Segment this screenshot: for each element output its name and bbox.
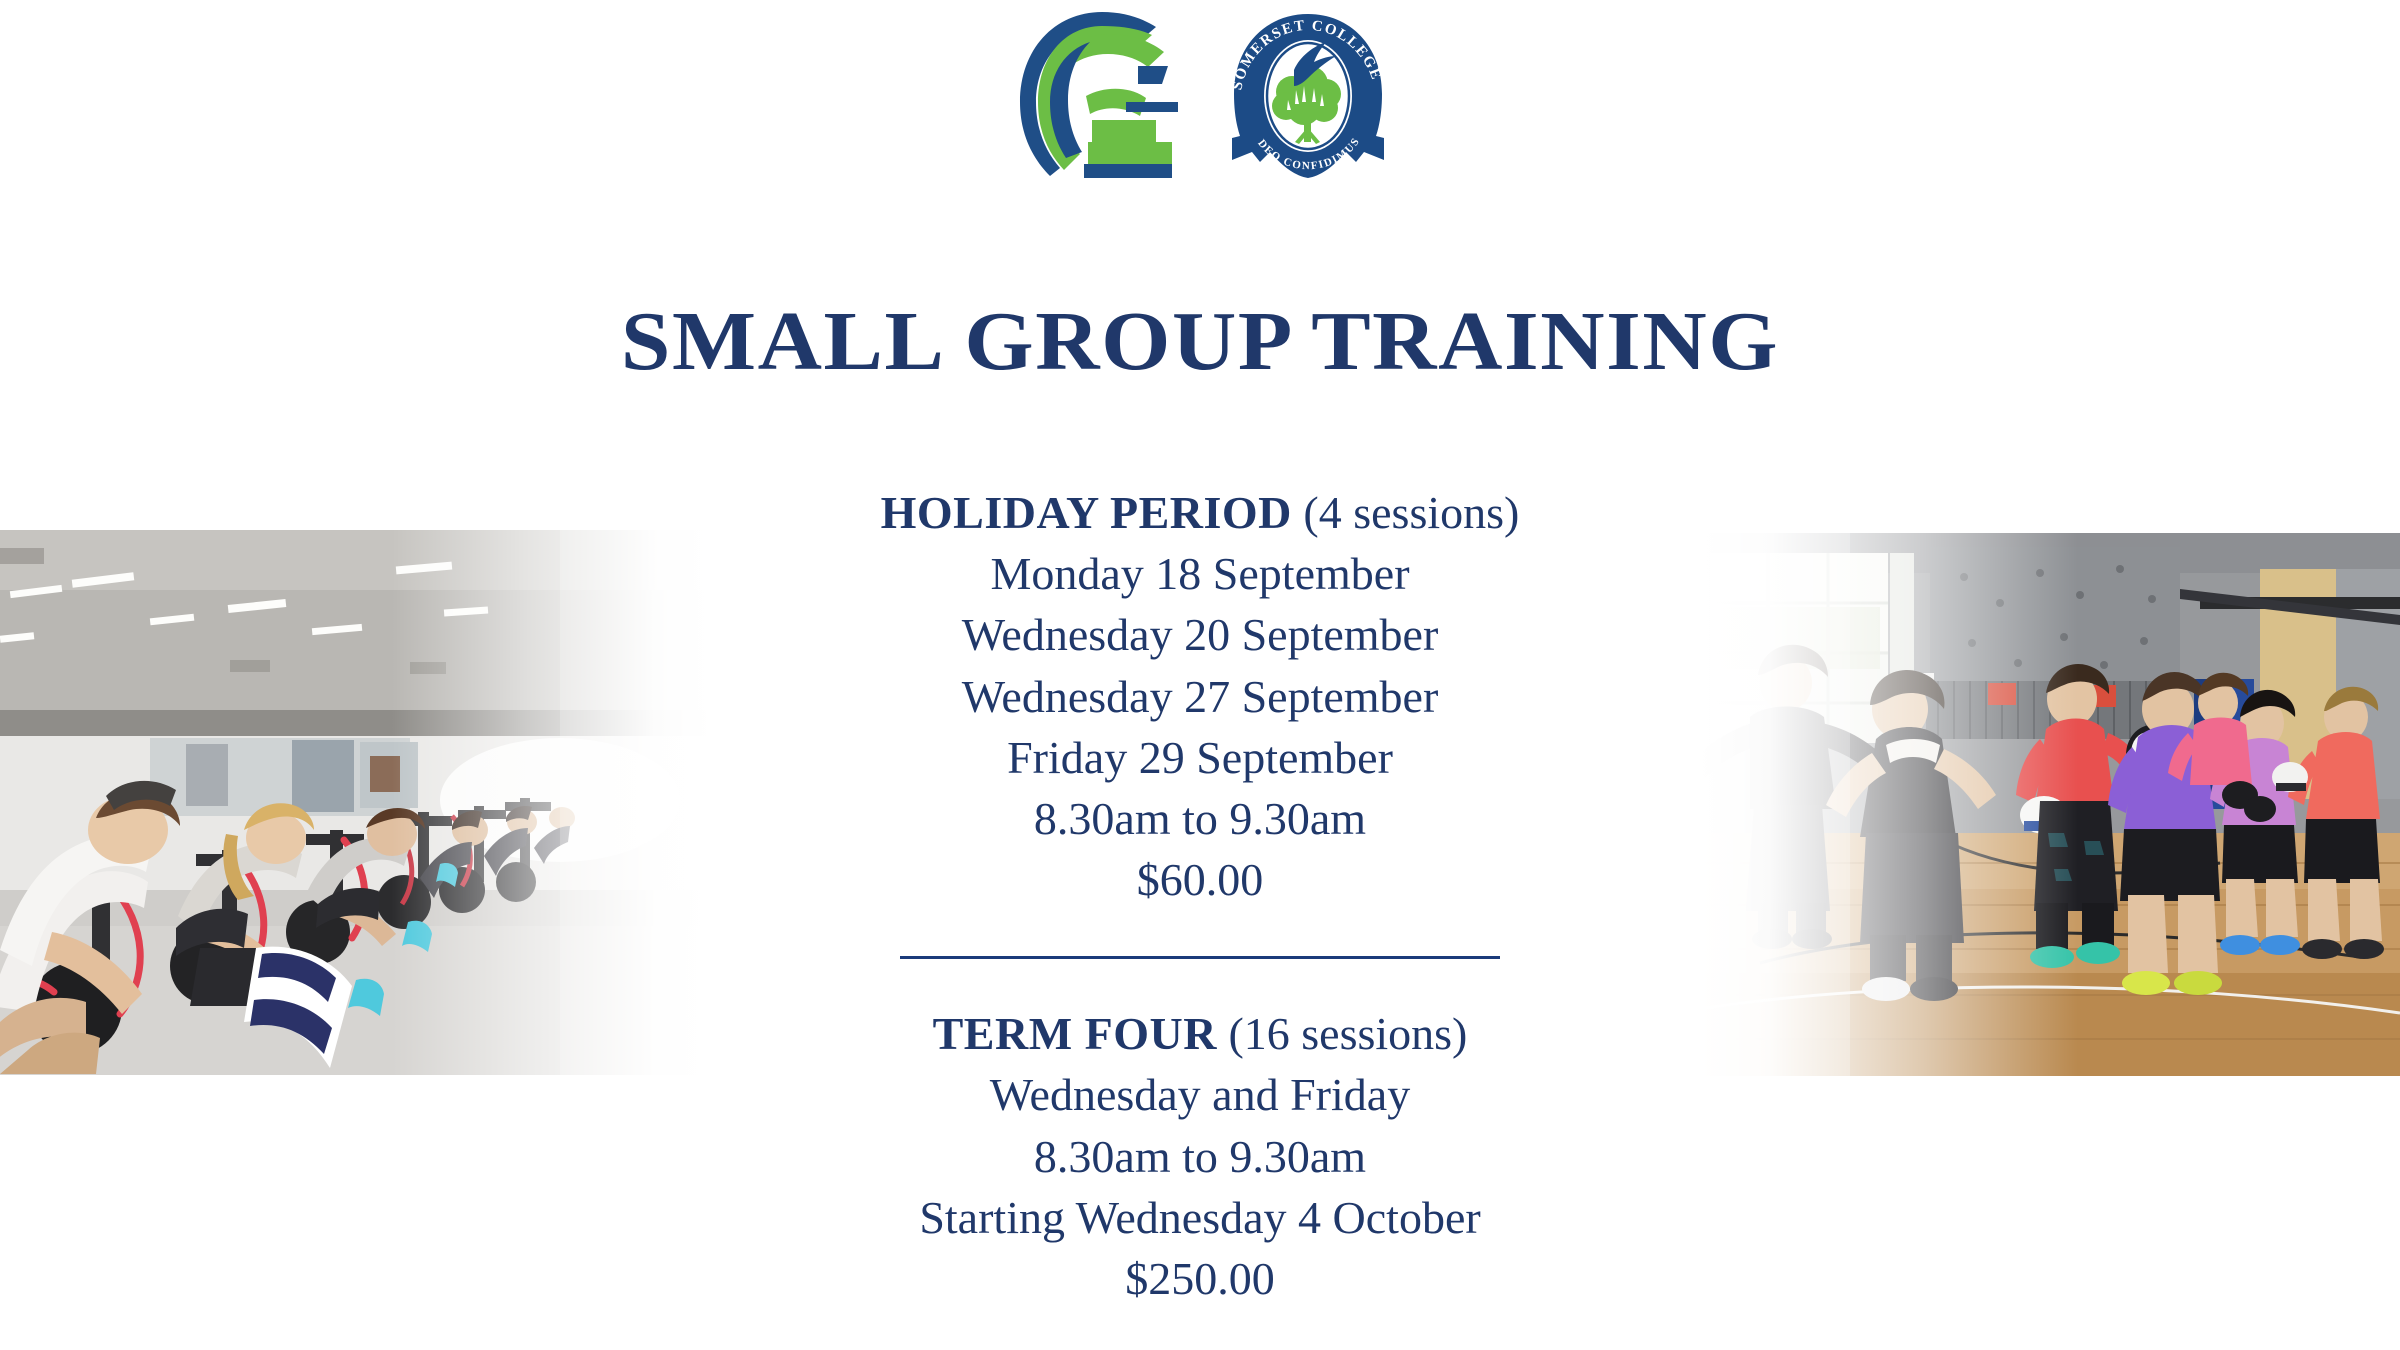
term-four-price: $250.00 — [700, 1248, 1700, 1309]
term-four-heading: TERM FOUR (16 sessions) — [700, 1003, 1700, 1064]
section-term-four: TERM FOUR (16 sessions) Wednesday and Fr… — [700, 1003, 1700, 1309]
spartan-helmet-logo — [1006, 8, 1196, 184]
term-four-days: Wednesday and Friday — [700, 1064, 1700, 1125]
term-four-start: Starting Wednesday 4 October — [700, 1187, 1700, 1248]
holiday-date-2: Wednesday 20 September — [700, 604, 1700, 665]
holiday-date-1: Monday 18 September — [700, 543, 1700, 604]
term-four-time: 8.30am to 9.30am — [700, 1126, 1700, 1187]
page-title: SMALL GROUP TRAINING — [0, 300, 2400, 384]
boxing-class-photo — [1700, 533, 2400, 1076]
section-divider — [900, 956, 1500, 959]
logo-row: SOMERSET COLLEGE DEO CONFIDIMUS — [0, 6, 2400, 186]
holiday-period-sessions: (4 sessions) — [1292, 487, 1519, 538]
boxing-photo-fade — [1700, 533, 2400, 1076]
holiday-date-3: Wednesday 27 September — [700, 666, 1700, 727]
spin-class-photo — [0, 530, 712, 1075]
session-details: HOLIDAY PERIOD (4 sessions) Monday 18 Se… — [700, 482, 1700, 1309]
holiday-price: $60.00 — [700, 849, 1700, 910]
holiday-period-heading: HOLIDAY PERIOD (4 sessions) — [700, 482, 1700, 543]
somerset-college-crest: SOMERSET COLLEGE DEO CONFIDIMUS — [1222, 8, 1394, 184]
holiday-date-4: Friday 29 September — [700, 727, 1700, 788]
spin-photo-fade — [0, 530, 712, 1075]
holiday-period-title: HOLIDAY PERIOD — [881, 487, 1292, 538]
section-holiday-period: HOLIDAY PERIOD (4 sessions) Monday 18 Se… — [700, 482, 1700, 910]
term-four-sessions: (16 sessions) — [1217, 1008, 1467, 1059]
holiday-time: 8.30am to 9.30am — [700, 788, 1700, 849]
term-four-title: TERM FOUR — [933, 1008, 1217, 1059]
